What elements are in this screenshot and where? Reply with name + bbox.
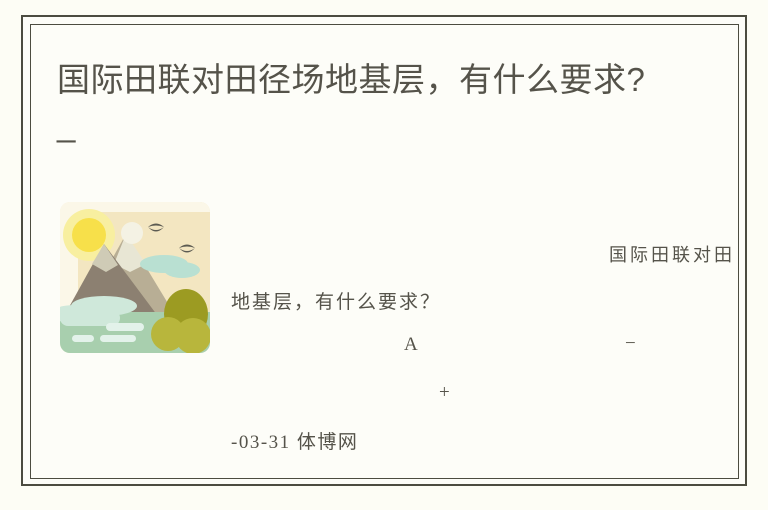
page-title: 国际田联对田径场地基层，有什么要求?_ (57, 57, 657, 147)
article-meta: -03-31 体博网 (231, 427, 358, 454)
page-root: 国际田联对田径场地基层，有什么要求?_ (0, 0, 768, 510)
mountain-landscape-illustration (60, 202, 210, 353)
font-decrease-button[interactable]: − (625, 333, 636, 355)
font-increase-button[interactable]: + (439, 382, 450, 404)
article-watermark: 国际田联对田 (609, 241, 735, 267)
article-excerpt: 地基层，有什么要求？ (231, 287, 441, 314)
article-thumbnail[interactable] (60, 202, 210, 353)
font-size-label: A (404, 334, 418, 356)
page-content: 国际田联对田径场地基层，有什么要求?_ (31, 25, 738, 478)
